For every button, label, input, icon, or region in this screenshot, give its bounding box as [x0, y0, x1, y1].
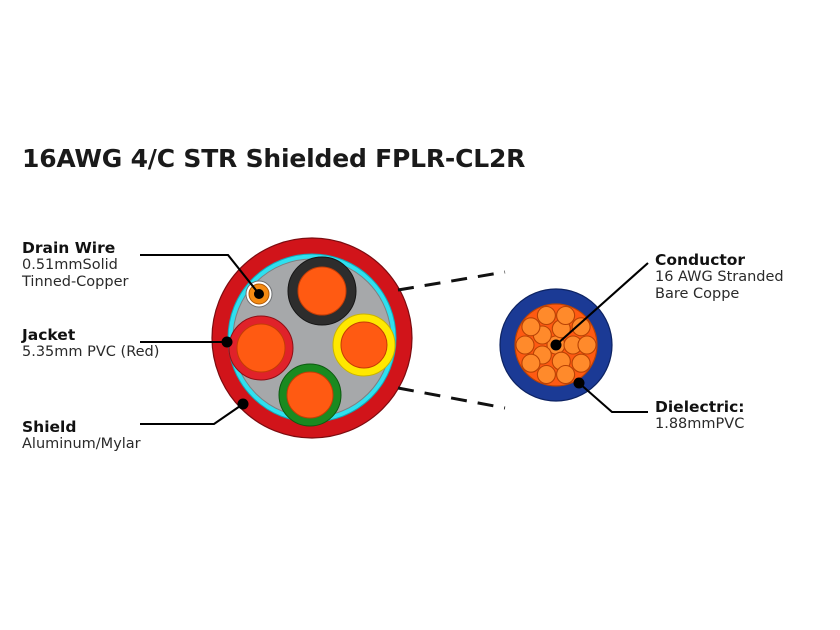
black-conductor: [288, 257, 356, 325]
callout-shield: Shield Aluminum/Mylar: [22, 418, 141, 453]
green-conductor: [279, 364, 341, 426]
callout-dielectric: Dielectric: 1.88mmPVC: [655, 398, 744, 433]
cable-diagram-illustration: [0, 0, 840, 630]
callout-drain-wire-title: Drain Wire: [22, 239, 128, 257]
expansion-line-top: [398, 272, 505, 290]
callout-conductor: Conductor 16 AWG Stranded Bare Coppe: [655, 251, 784, 304]
callout-jacket-title: Jacket: [22, 326, 159, 344]
callout-conductor-line2: Bare Coppe: [655, 286, 784, 303]
dot-jacket: [222, 337, 233, 348]
callout-drain-wire-line2: Tinned-Copper: [22, 274, 128, 291]
callout-shield-line1: Aluminum/Mylar: [22, 436, 141, 453]
dot-conductor: [551, 340, 562, 351]
callout-jacket: Jacket 5.35mm PVC (Red): [22, 326, 159, 361]
callout-dielectric-line1: 1.88mmPVC: [655, 416, 744, 433]
yellow-conductor: [333, 314, 395, 376]
expansion-dashed-lines: [398, 272, 505, 408]
callout-conductor-title: Conductor: [655, 251, 784, 269]
red-conductor: [229, 316, 293, 380]
leader-shield: [140, 404, 243, 424]
dot-shield: [238, 399, 249, 410]
callout-conductor-line1: 16 AWG Stranded: [655, 269, 784, 286]
callout-dielectric-title: Dielectric:: [655, 398, 744, 416]
callout-shield-title: Shield: [22, 418, 141, 436]
dot-drain-wire: [254, 289, 264, 299]
callout-drain-wire-line1: 0.51mmSolid: [22, 257, 128, 274]
expansion-line-bottom: [398, 388, 505, 408]
callout-jacket-line1: 5.35mm PVC (Red): [22, 344, 159, 361]
callout-drain-wire: Drain Wire 0.51mmSolid Tinned-Copper: [22, 239, 128, 292]
diagram-canvas: 16AWG 4/C STR Shielded FPLR-CL2R: [0, 0, 840, 630]
dot-dielectric: [574, 378, 585, 389]
